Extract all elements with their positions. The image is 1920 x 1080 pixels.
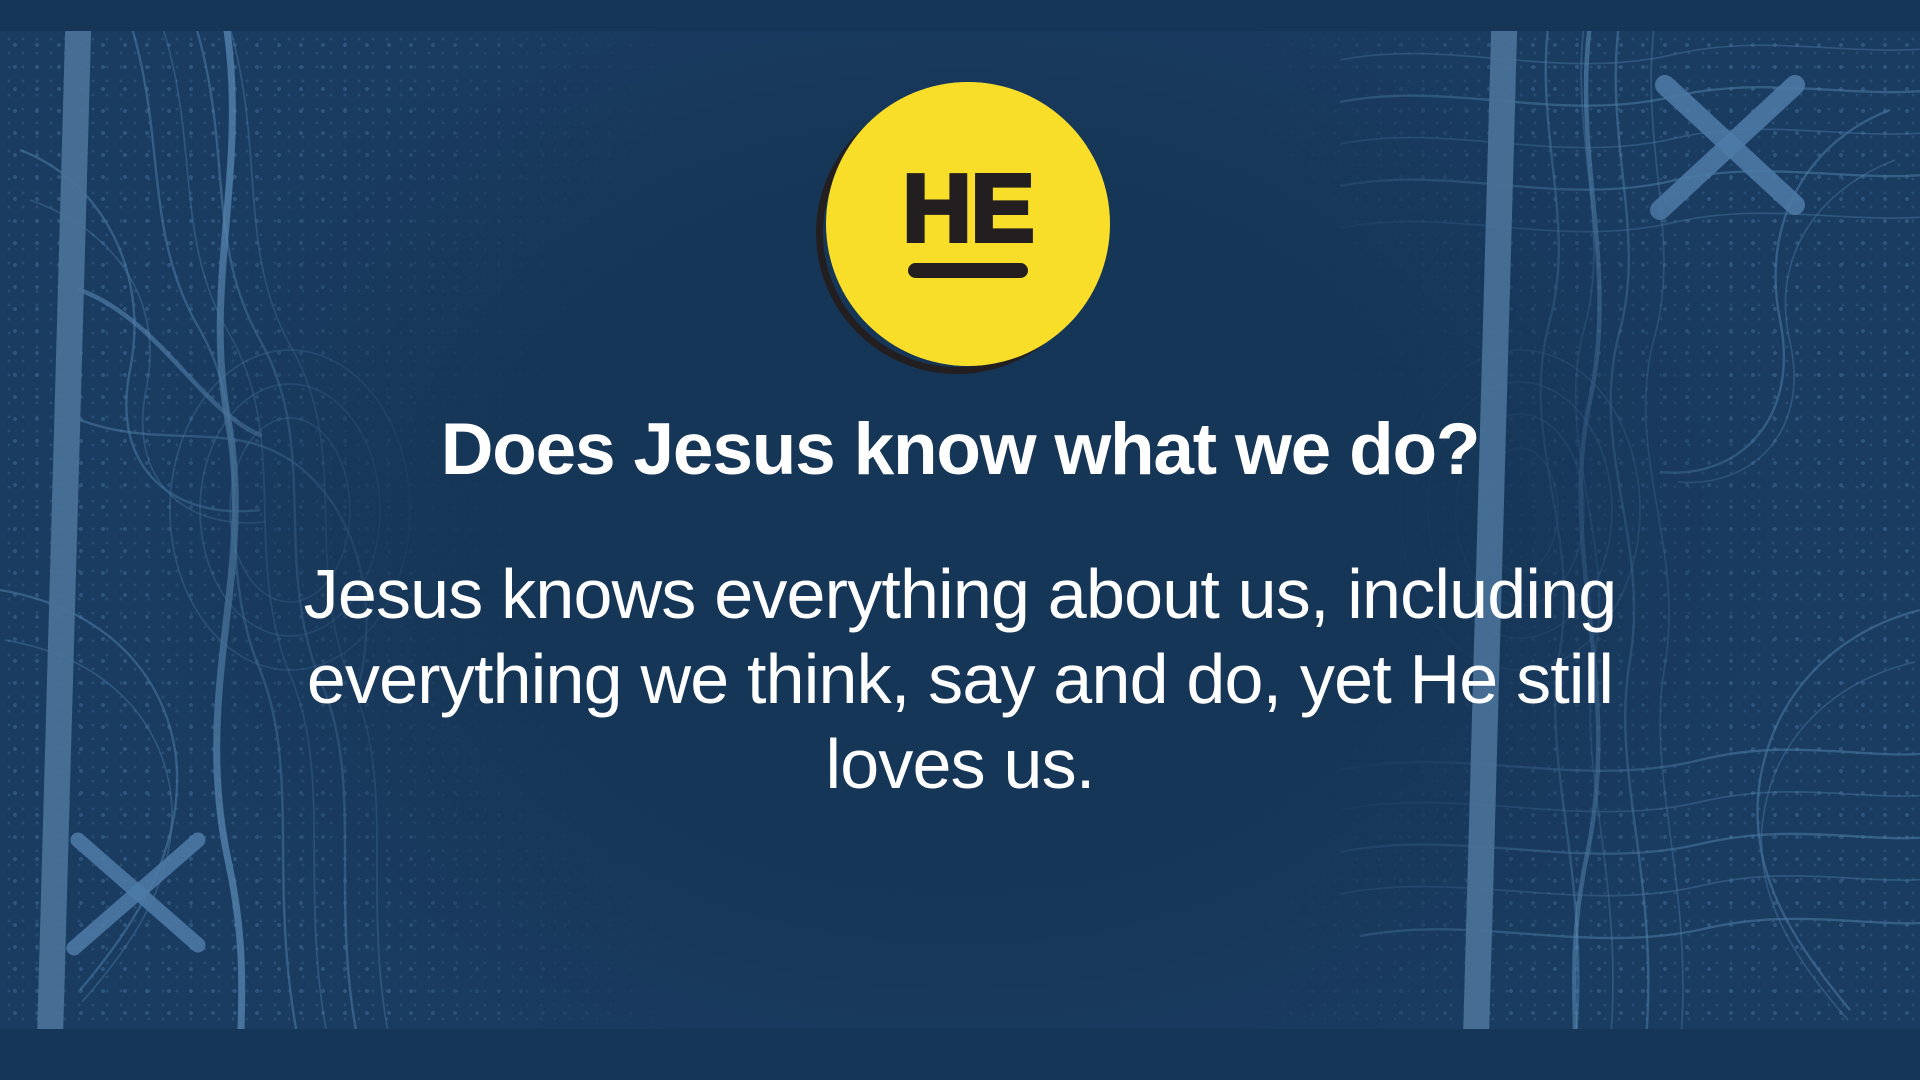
page-title: Does Jesus know what we do?	[441, 412, 1480, 489]
he-logo: HE	[810, 78, 1110, 378]
body-line-2: everything we think, say and do, yet He …	[250, 637, 1670, 722]
underline-bar-icon	[908, 263, 1028, 278]
body-paragraph: Jesus knows everything about us, includi…	[250, 552, 1670, 808]
presentation-slide: HE Does Jesus know what we do? Jesus kno…	[0, 0, 1920, 1080]
logo-monogram: HE	[902, 170, 1033, 249]
body-line-1: Jesus knows everything about us, includi…	[250, 552, 1670, 637]
slide-content: HE Does Jesus know what we do? Jesus kno…	[0, 0, 1920, 1080]
body-line-3: loves us.	[250, 722, 1670, 807]
